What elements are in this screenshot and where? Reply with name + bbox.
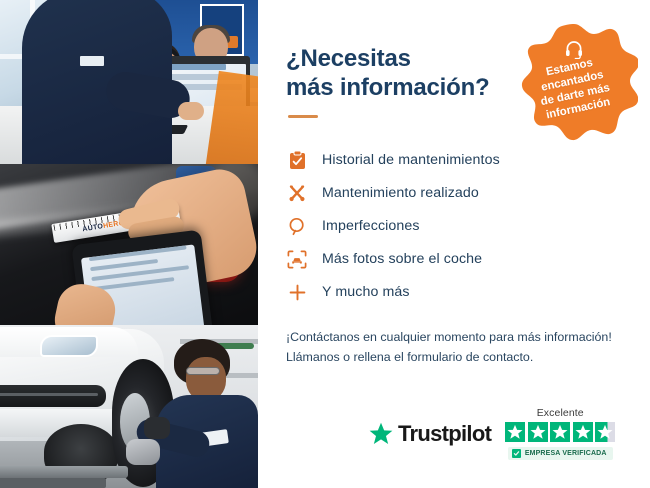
star-partial (595, 422, 615, 442)
star-filled (505, 422, 525, 442)
feature-label: Más fotos sobre el coche (322, 251, 482, 267)
grille-decor (0, 385, 106, 407)
promo-badge: Estamos encantados de darte más informac… (510, 22, 638, 150)
star-filled (528, 422, 548, 442)
page-title-line-1: ¿Necesitas (286, 45, 411, 72)
trustpilot-rating-label: Excelente (537, 407, 584, 419)
clipboard-check-icon (286, 149, 308, 171)
verified-company-badge: EMPRESA VERIFICADA (508, 447, 613, 460)
magnifier-icon (286, 215, 308, 237)
page-title: ¿Necesitas más información? (286, 44, 526, 103)
trustpilot-name: Trustpilot (398, 421, 491, 447)
agent-figure-decor (22, 0, 172, 164)
info-card: AUTOHERO (0, 0, 650, 488)
photo-call-center-agent (0, 0, 258, 164)
trustpilot-widget[interactable]: Trustpilot Excelente (368, 407, 615, 460)
photo-ruler-inspection: AUTOHERO (0, 164, 258, 325)
trustpilot-rating: Excelente (505, 407, 615, 460)
lift-arm-decor (0, 478, 106, 488)
trustpilot-logo: Trustpilot (368, 421, 491, 447)
feature-item-mas: Y mucho más (286, 276, 626, 309)
contact-blurb: ¡Contáctanos en cualquier momento para m… (286, 327, 626, 368)
star-filled (550, 422, 570, 442)
photo-mechanic-tire (0, 325, 258, 488)
car-scan-icon (286, 248, 308, 270)
feature-list: Historial de mantenimientos M (286, 144, 626, 309)
mechanic-figure-decor (142, 339, 258, 488)
feature-label: Y mucho más (322, 284, 410, 300)
feature-item-mantenimiento: Mantenimiento realizado (286, 177, 626, 210)
trustpilot-star-icon (368, 421, 394, 447)
feature-label: Mantenimiento realizado (322, 185, 479, 201)
feature-item-fotos: Más fotos sobre el coche (286, 243, 626, 276)
check-icon (512, 449, 521, 458)
lift-arm-decor (0, 466, 128, 478)
page-title-line-2: más información? (286, 74, 490, 101)
contact-blurb-line-2: Llámanos o rellena el formulario de cont… (286, 350, 533, 364)
feature-item-imperfecciones: Imperfecciones (286, 210, 626, 243)
feature-label: Imperfecciones (322, 218, 420, 234)
star-filled (573, 422, 593, 442)
verified-company-label: EMPRESA VERIFICADA (525, 450, 607, 457)
photo-column: AUTOHERO (0, 0, 258, 488)
content-panel: ¿Necesitas más información? Historial de… (258, 0, 650, 488)
feature-label: Historial de mantenimientos (322, 152, 500, 168)
tools-icon (286, 182, 308, 204)
title-divider (288, 115, 318, 118)
headlight-decor (40, 335, 98, 357)
plus-icon (286, 281, 308, 303)
trustpilot-stars (505, 422, 615, 442)
contact-blurb-line-1: ¡Contáctanos en cualquier momento para m… (286, 330, 612, 344)
